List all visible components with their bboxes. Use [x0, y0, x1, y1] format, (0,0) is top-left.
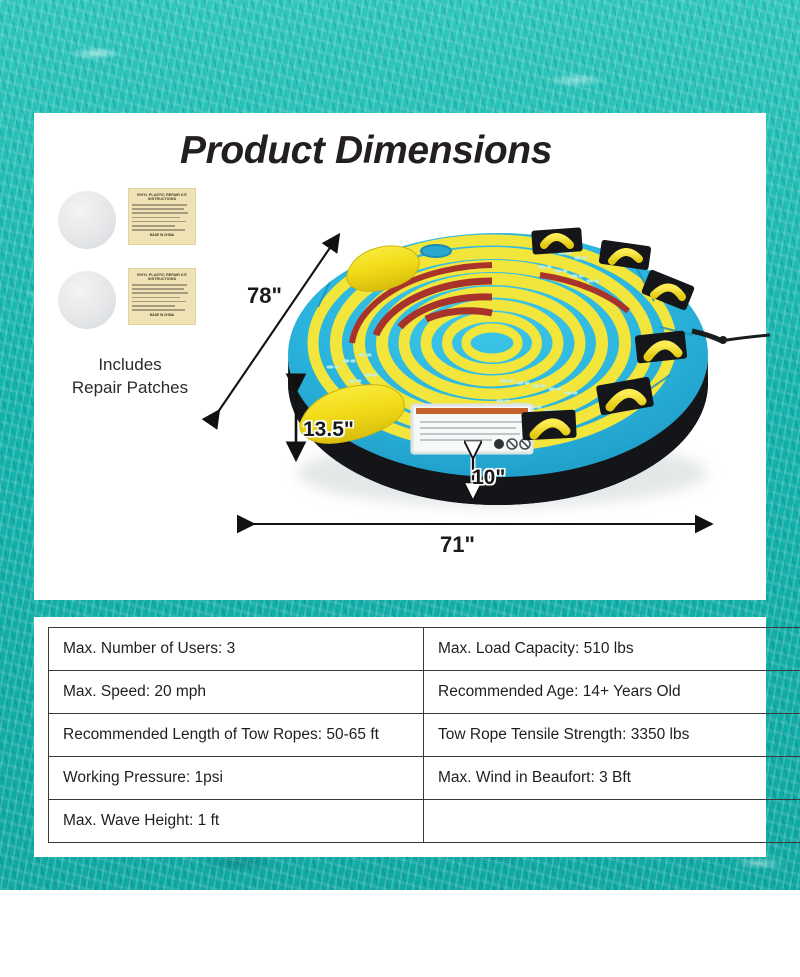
repair-card-title: VINYL PLASTIC REPAIR KIT INSTRUCTIONS [132, 273, 192, 282]
warning-label [412, 405, 532, 453]
repair-instruction-card: VINYL PLASTIC REPAIR KIT INSTRUCTIONS MA… [128, 188, 196, 245]
spec-cell: Max. Wind in Beaufort: 3 Bft [424, 757, 800, 800]
table-row: Max. Speed: 20 mph Recommended Age: 14+ … [49, 671, 800, 714]
table-row: Max. Number of Users: 3 Max. Load Capaci… [49, 628, 800, 671]
repair-patches-group: VINYL PLASTIC REPAIR KIT INSTRUCTIONS MA… [50, 188, 230, 400]
spec-cell-empty [424, 800, 800, 843]
grab-handle [635, 330, 688, 363]
spec-cell: Recommended Length of Tow Ropes: 50-65 f… [49, 714, 424, 757]
spec-cell: Working Pressure: 1psi [49, 757, 424, 800]
repair-card-text-lines [132, 284, 192, 311]
specifications-table: Max. Number of Users: 3 Max. Load Capaci… [48, 627, 800, 843]
spec-cell: Recommended Age: 14+ Years Old [424, 671, 800, 714]
repair-patch-disc-icon [58, 271, 116, 329]
repair-patch-item: VINYL PLASTIC REPAIR KIT INSTRUCTIONS MA… [50, 188, 230, 268]
repair-card-footer: MADE IN CHINA [129, 313, 195, 317]
air-valve [421, 245, 451, 257]
infographic-page: Product Dimensions VINYL PLASTIC REPAIR … [0, 0, 800, 977]
dimension-label-backrest-height: 13.5" [303, 418, 354, 442]
grab-handle [531, 227, 583, 254]
dimension-label-width: 71" [440, 532, 475, 558]
spec-cell: Max. Wave Height: 1 ft [49, 800, 424, 843]
repair-card-text-lines [132, 204, 192, 231]
grab-handle [521, 410, 576, 441]
dimension-label-tube-height: 10" [472, 466, 505, 490]
table-row: Max. Wave Height: 1 ft [49, 800, 800, 843]
repair-card-title: VINYL PLASTIC REPAIR KIT INSTRUCTIONS [132, 193, 192, 202]
repair-instruction-card: VINYL PLASTIC REPAIR KIT INSTRUCTIONS MA… [128, 268, 196, 325]
repair-caption-line-1: Includes [50, 354, 210, 377]
spec-cell: Tow Rope Tensile Strength: 3350 lbs [424, 714, 800, 757]
repair-patch-item: VINYL PLASTIC REPAIR KIT INSTRUCTIONS MA… [50, 268, 230, 348]
table-row: Recommended Length of Tow Ropes: 50-65 f… [49, 714, 800, 757]
spec-cell: Max. Load Capacity: 510 lbs [424, 628, 800, 671]
repair-caption-line-2: Repair Patches [50, 377, 210, 400]
repair-patch-disc-icon [58, 191, 116, 249]
page-title: Product Dimensions [0, 129, 732, 173]
spec-cell: Max. Speed: 20 mph [49, 671, 424, 714]
spec-cell: Max. Number of Users: 3 [49, 628, 424, 671]
repair-card-footer: MADE IN CHINA [129, 233, 195, 237]
table-row: Working Pressure: 1psi Max. Wind in Beau… [49, 757, 800, 800]
dimension-label-diagonal: 78" [247, 283, 282, 309]
repair-patches-caption: Includes Repair Patches [50, 354, 210, 400]
